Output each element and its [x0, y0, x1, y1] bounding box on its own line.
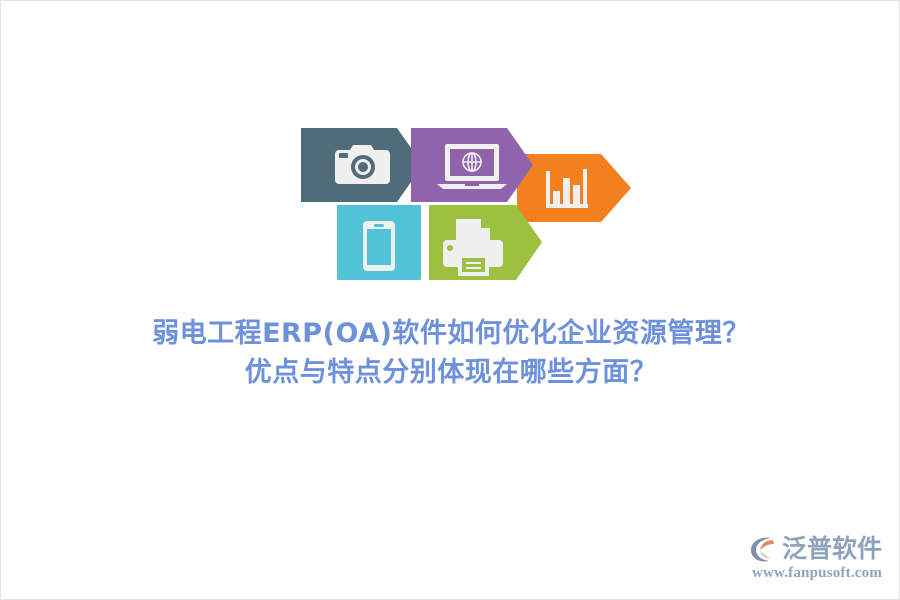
page-title-line-2: 优点与特点分别体现在哪些方面？ — [1, 353, 900, 392]
fanpu-logo-svg — [749, 534, 779, 564]
brand-url: www.fanpusoft.com — [749, 565, 885, 582]
slide-canvas: 弱电工程ERP(OA)软件如何优化企业资源管理？ 优点与特点分别体现在哪些方面？… — [0, 0, 900, 600]
camera-icon — [335, 145, 390, 184]
tile-mobile — [337, 205, 421, 280]
smartphone-icon — [363, 221, 395, 271]
tile-camera — [301, 128, 423, 202]
infographic-svg — [301, 128, 633, 280]
brand-logo-row: 泛普软件 — [749, 531, 885, 567]
fanpu-logo-icon — [749, 534, 779, 564]
page-title: 弱电工程ERP(OA)软件如何优化企业资源管理？ 优点与特点分别体现在哪些方面？ — [1, 314, 900, 392]
tile-analytics — [517, 154, 631, 222]
page-title-line-1: 弱电工程ERP(OA)软件如何优化企业资源管理？ — [1, 314, 900, 353]
brand-watermark: 泛普软件 www.fanpusoft.com — [749, 531, 885, 589]
brand-name: 泛普软件 — [782, 534, 882, 564]
device-tiles-infographic — [301, 128, 633, 280]
tile-laptop-web — [411, 128, 533, 202]
